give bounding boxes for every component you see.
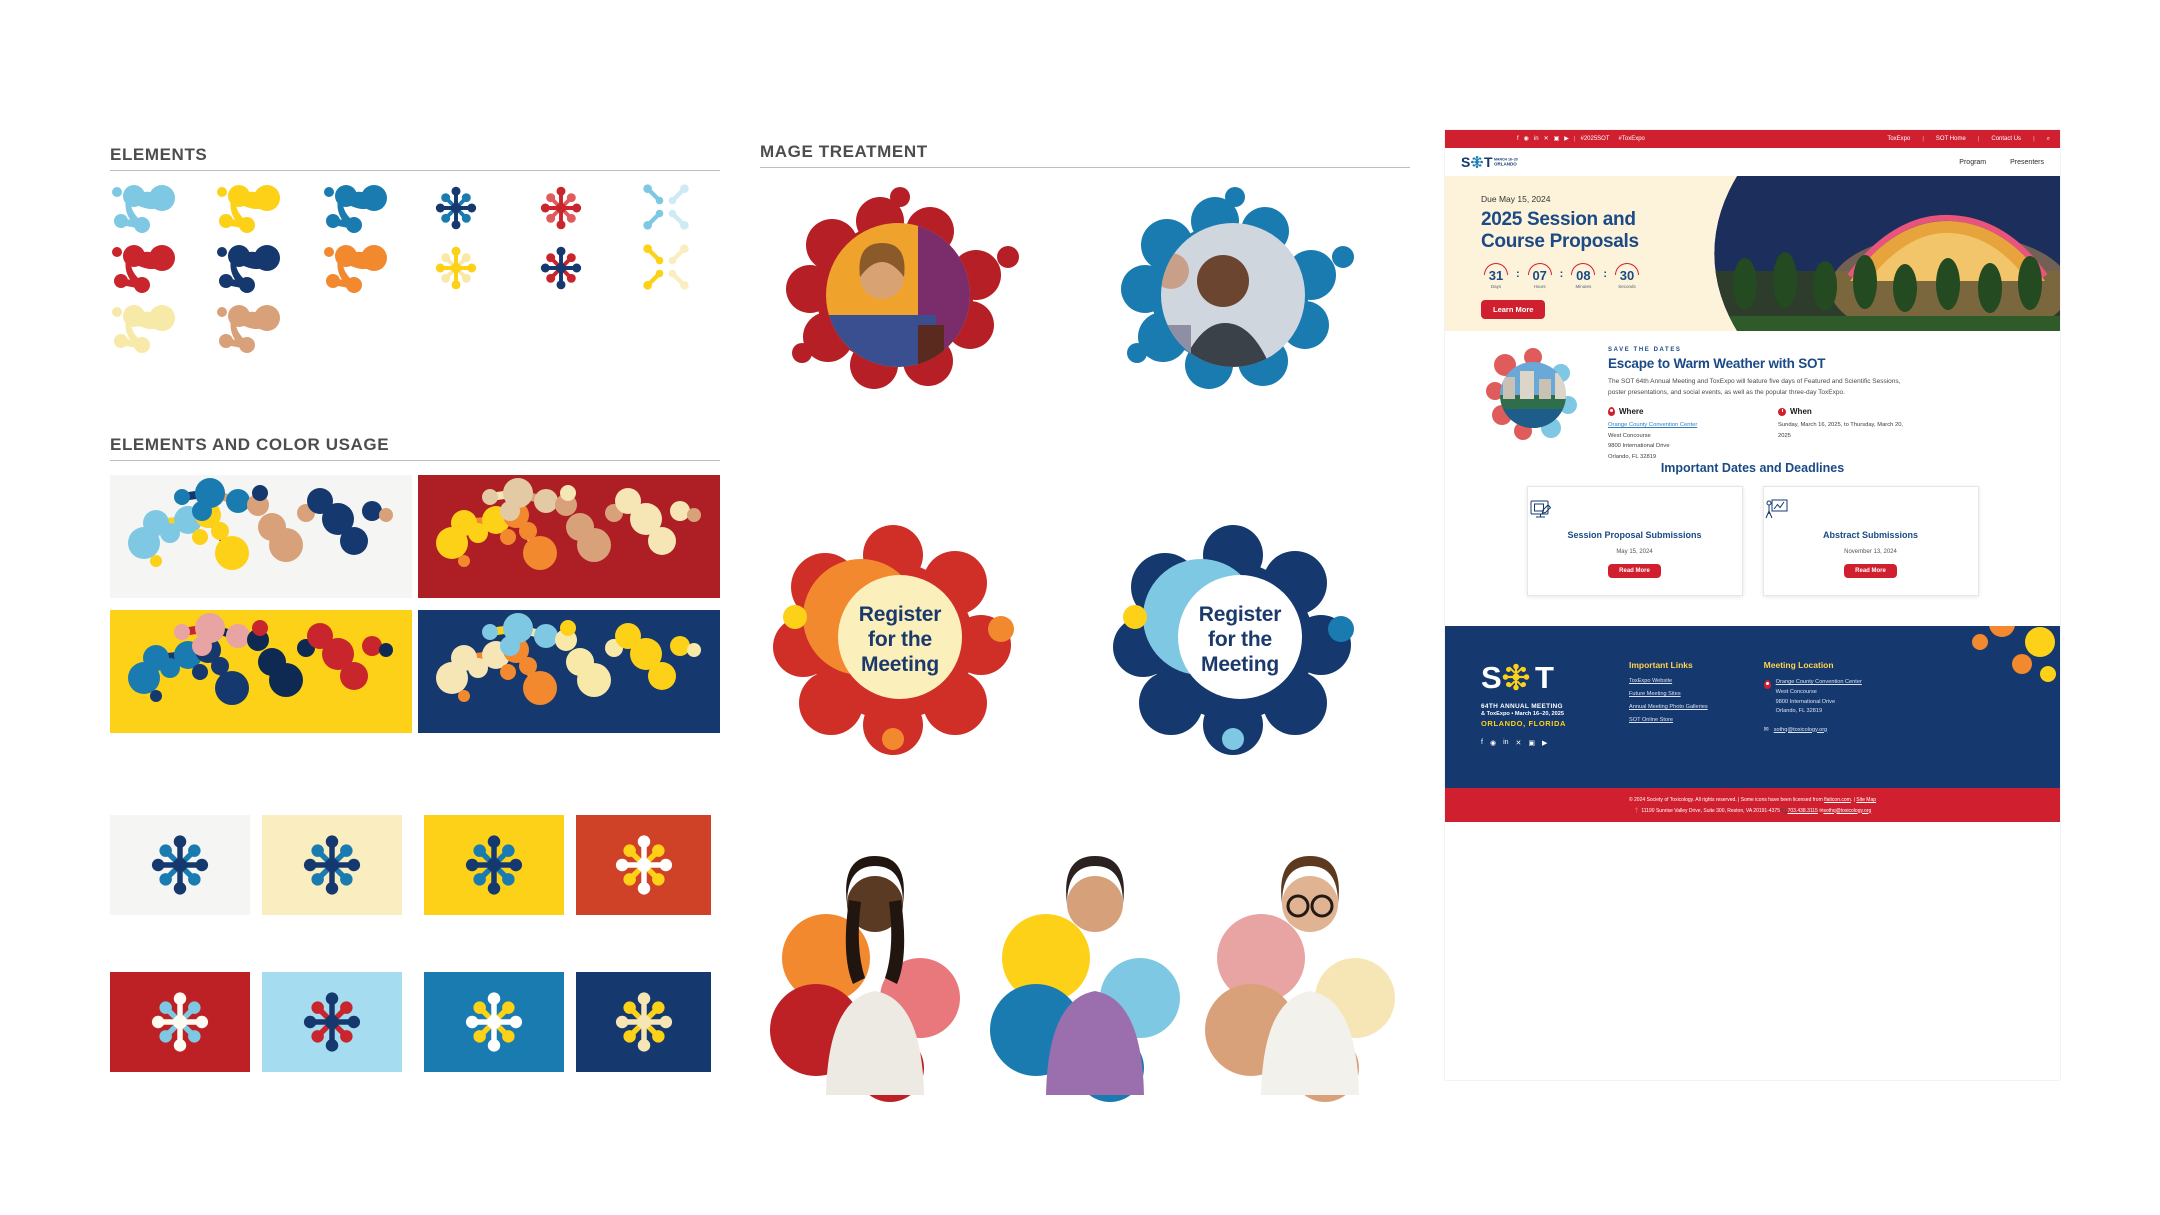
flickr-icon[interactable]: ▣ (1554, 136, 1560, 142)
hero-learn-more-button[interactable]: Learn More (1481, 300, 1545, 319)
swatch-orangered-whiteyellow-burst-icon (605, 826, 683, 904)
countdown-seconds: 30Seconds (1612, 263, 1642, 289)
separator: | (2033, 136, 2035, 142)
countdown-arc (1571, 263, 1595, 275)
swatch-midblue-whiteyellow-burst-icon (455, 983, 533, 1061)
footer-link[interactable]: Annual Meeting Photo Galleries (1629, 704, 1708, 710)
swatch-navy-creamyellow-burst-icon (605, 983, 683, 1061)
footer-logo-line-3: ORLANDO, FLORIDA (1481, 719, 1601, 728)
save-dates-heading: Escape to Warm Weather with SOT (1608, 356, 1913, 371)
nav-link-presenters[interactable]: Presenters (2010, 159, 2044, 166)
footer-links-heading: Important Links (1629, 660, 1708, 670)
burst-red-soft-glyph (533, 180, 589, 236)
molecule-cream (110, 300, 188, 356)
panel-white (110, 475, 412, 598)
molecule-cream-glyph (110, 300, 188, 356)
molecule-tan-glyph (215, 300, 293, 356)
linkedin-icon[interactable]: in (1503, 739, 1508, 747)
panel-yellow-artwork (110, 610, 412, 733)
panel-navy (418, 610, 720, 733)
photo-speaker-podium (770, 185, 1035, 400)
cross-yellow (638, 240, 694, 294)
card-read-more-button[interactable]: Read More (1608, 564, 1661, 578)
separator: | (1574, 136, 1576, 142)
burst-red-soft (533, 180, 589, 236)
separator: | (1922, 136, 1924, 142)
person-2 (990, 830, 1200, 1095)
topbar-hashtags[interactable]: #2025SOT#ToxExpo (1580, 136, 1644, 142)
swatch-white-navyblue (110, 815, 250, 915)
separator: | (1978, 136, 1980, 142)
footer-logo-block: S T 64TH ANNUAL MEETING & (1481, 660, 1601, 747)
register-badge-blue[interactable]: Registerfor theMeeting (1105, 525, 1375, 750)
panel-yellow (110, 610, 412, 733)
person-2-photo (990, 830, 1200, 1095)
clock-icon (1778, 408, 1786, 416)
footer-link[interactable]: Future Meeting Sites (1629, 691, 1708, 697)
register-badge-red[interactable]: Registerfor theMeeting (765, 525, 1035, 750)
copyright-line-2: 📍 11190 Sunrise Valley Drive, Suite 300,… (1445, 806, 2060, 817)
molecule-light-blue (110, 180, 188, 236)
site-topbar: f◉in✕▣▶ | #2025SOT#ToxExpo ToxExpo|SOT H… (1445, 130, 2060, 148)
when-body: Sunday, March 16, 2025, to Thursday, Mar… (1778, 420, 1913, 441)
topbar-link[interactable]: SOT Home (1936, 136, 1966, 142)
important-dates-section: Important Dates and Deadlines Session Pr… (1445, 461, 2060, 596)
photo-speaker-podium-artwork (770, 185, 1035, 400)
hero-section: Due May 15, 2024 2025 Session and Course… (1445, 176, 2060, 331)
footer-social-icons[interactable]: f◉in✕▣▶ (1481, 739, 1601, 747)
logo-sub-2: ORLANDO (1494, 161, 1517, 166)
swatch-white-navyblue-burst-icon (141, 826, 219, 904)
date-card: Session Proposal SubmissionsMay 15, 2024… (1527, 486, 1743, 596)
topbar-link[interactable]: Contact Us (1991, 136, 2021, 142)
register-badge-blue-label: Registerfor theMeeting (1105, 603, 1375, 677)
address-line: 9800 International Drive (1776, 699, 1835, 705)
panel-white-artwork (110, 475, 412, 598)
countdown-timer: 31Days:07Hours:08Minutes:30Seconds (1481, 263, 1711, 289)
facebook-icon[interactable]: f (1517, 136, 1519, 142)
where-label: Where (1619, 407, 1643, 416)
photo-attendees-talking-artwork (1105, 185, 1370, 400)
footer-sot-logo: S T (1481, 660, 1591, 700)
molecule-mid-blue (322, 180, 400, 236)
sot-logo[interactable]: S T MARCH 16–20 ORLAN (1461, 154, 1523, 171)
youtube-icon[interactable]: ▶ (1564, 136, 1569, 142)
save-dates-image (1475, 343, 1595, 453)
address-line: 9800 International Drive (1608, 443, 1670, 449)
card-title: Session Proposal Submissions (1528, 530, 1742, 540)
molecule-red (110, 240, 188, 296)
burst-navy-red-glyph (533, 240, 589, 296)
molecule-light-blue-glyph (110, 180, 188, 236)
molecule-navy (215, 240, 293, 296)
computer-document-icon (1528, 498, 1554, 522)
topbar-links[interactable]: ToxExpo|SOT Home|Contact Us|⌕ (1887, 136, 2050, 143)
copyright-text-a: © 2024 Society of Toxicology. All rights… (1629, 797, 1824, 803)
person-3 (1205, 830, 1415, 1095)
divider (110, 170, 720, 171)
x-icon[interactable]: ✕ (1516, 739, 1522, 747)
where-block: Where Orange County Convention Center We… (1608, 407, 1738, 463)
molecule-mid-blue-glyph (322, 180, 400, 236)
molecule-red-glyph (110, 240, 188, 296)
molecule-orange (322, 240, 400, 296)
section-header-elements: ELEMENTS (110, 145, 720, 171)
svg-text:T: T (1484, 154, 1493, 170)
footer-email-link[interactable]: sothq@toxicology.org (1774, 727, 1827, 733)
swatch-red-whiteblue (110, 972, 250, 1072)
section-title-image-treatment: MAGE TREATMENT (760, 142, 1410, 162)
youtube-icon[interactable]: ▶ (1542, 739, 1547, 747)
footer-link[interactable]: ToxExpo Website (1629, 678, 1708, 684)
topbar-link[interactable]: ToxExpo (1887, 136, 1910, 142)
panel-red (418, 475, 720, 598)
important-dates-heading: Important Dates and Deadlines (1445, 461, 2060, 475)
important-dates-cards: Session Proposal SubmissionsMay 15, 2024… (1445, 486, 2060, 596)
save-dates-copy: SAVE THE DATES Escape to Warm Weather wi… (1608, 347, 1913, 463)
nav-link-program[interactable]: Program (1959, 159, 1986, 166)
countdown-hours: 07Hours (1525, 263, 1555, 289)
svg-text:S: S (1481, 660, 1502, 695)
burst-navy-red (533, 240, 589, 296)
address-line: West Concourse (1608, 433, 1651, 439)
molecule-yellow-glyph (215, 180, 293, 236)
molecule-yellow (215, 180, 293, 236)
save-dates-body: The SOT 64th Annual Meeting and ToxExpo … (1608, 377, 1913, 398)
countdown-minutes: 08Minutes (1568, 263, 1598, 289)
footer-link[interactable]: SOT Online Store (1629, 717, 1708, 723)
register-badge-red-label: Registerfor theMeeting (765, 603, 1035, 677)
instagram-icon[interactable]: ◉ (1490, 739, 1496, 747)
hashtag-link[interactable]: #2025SOT (1580, 136, 1609, 142)
where-body: Orange County Convention Center West Con… (1608, 420, 1738, 463)
section-title-elements-color: ELEMENTS AND COLOR USAGE (110, 435, 720, 455)
swatch-navy-creamyellow (576, 972, 711, 1072)
footer-location-heading: Meeting Location (1764, 660, 1862, 670)
hero-photo-illustration (1700, 176, 2060, 331)
molecule-tan (215, 300, 293, 356)
swatch-cream-navyblue (262, 815, 402, 915)
card-title: Abstract Submissions (1764, 530, 1978, 540)
person-1-photo (770, 830, 980, 1095)
swatch-red-whiteblue-burst-icon (141, 983, 219, 1061)
molecule-orange-glyph (322, 240, 400, 296)
instagram-icon[interactable]: ◉ (1524, 136, 1529, 142)
countdown-label: Hours (1525, 284, 1555, 289)
topbar-social-icons[interactable]: f◉in✕▣▶ (1517, 136, 1569, 142)
venue-link[interactable]: Orange County Convention Center (1608, 422, 1697, 428)
presenter-easel-icon (1764, 498, 1790, 522)
swatch-lightblue-navyred-burst-icon (293, 983, 371, 1061)
address-text: 11190 Sunrise Valley Drive, Suite 300, R… (1641, 808, 1780, 814)
molecule-navy-glyph (215, 240, 293, 296)
person-1 (770, 830, 980, 1095)
linkedin-icon[interactable]: in (1534, 136, 1539, 142)
save-the-dates-section: SAVE THE DATES Escape to Warm Weather wi… (1445, 331, 2060, 461)
location-pin-icon (1608, 407, 1615, 416)
countdown-separator: : (1516, 268, 1520, 289)
phone-link[interactable]: 703.438.3115 (1788, 808, 1818, 814)
address-line: Orlando, FL 32819 (1776, 708, 1822, 714)
person-3-photo (1205, 830, 1415, 1095)
hero-due-date: Due May 15, 2024 (1481, 194, 1711, 204)
flickr-icon[interactable]: ▣ (1528, 739, 1535, 747)
where-heading: Where (1608, 407, 1738, 416)
location-pin-icon (1764, 680, 1771, 689)
logo-sub-1: MARCH 16–20 (1494, 157, 1518, 161)
burst-navy-blue (428, 180, 484, 236)
swatch-lightblue-navyred (262, 972, 402, 1072)
address-line: Orlando, FL 32819 (1608, 454, 1656, 460)
countdown-arc (1528, 263, 1552, 275)
facebook-icon[interactable]: f (1481, 739, 1483, 747)
cross-light-blue (638, 180, 694, 234)
swatch-yellow-navyblue (424, 815, 564, 915)
copyright-bar: © 2024 Society of Toxicology. All rights… (1445, 788, 2060, 822)
address-line: West Concourse (1776, 689, 1817, 695)
countdown-separator: : (1560, 268, 1564, 289)
burst-yellow-cream-glyph (428, 240, 484, 296)
footer-content: S T 64TH ANNUAL MEETING & (1481, 660, 2040, 747)
hero-title-line-1: 2025 Session and (1481, 209, 1711, 231)
sot-logo-mark: S T MARCH 16–20 ORLAN (1461, 154, 1523, 171)
navbar-links[interactable]: ProgramPresenters (1959, 159, 2044, 166)
email-link[interactable]: sothq@toxicology.org (1823, 808, 1871, 814)
countdown-label: Minutes (1568, 284, 1598, 289)
footer-location-col: Meeting Location Orange County Conventio… (1764, 660, 1862, 747)
when-heading: When (1778, 407, 1913, 416)
swatch-cream-navyblue-burst-icon (293, 826, 371, 904)
orlando-photo-blob (1475, 343, 1595, 453)
swatch-orangered-whiteyellow (576, 815, 711, 915)
panel-red-artwork (418, 475, 720, 598)
card-date: November 13, 2024 (1764, 549, 1978, 555)
hero-copy: Due May 15, 2024 2025 Session and Course… (1481, 194, 1711, 319)
footer-logo-line-1: 64TH ANNUAL MEETING (1481, 703, 1601, 710)
swatch-yellow-navyblue-burst-icon (455, 826, 533, 904)
burst-yellow-cream (428, 240, 484, 296)
save-dates-eyebrow: SAVE THE DATES (1608, 347, 1913, 353)
section-title-elements: ELEMENTS (110, 145, 720, 165)
location-pin-icon: 📍 (1634, 808, 1640, 814)
cross-yellow-glyph (638, 240, 694, 294)
photo-attendees-talking (1105, 185, 1370, 400)
countdown-label: Seconds (1612, 284, 1642, 289)
section-header-elements-color: ELEMENTS AND COLOR USAGE (110, 435, 720, 461)
section-header-image-treatment: MAGE TREATMENT (760, 142, 1410, 168)
when-block: When Sunday, March 16, 2025, to Thursday… (1778, 407, 1913, 463)
countdown-arc (1615, 263, 1639, 275)
sitemap-link[interactable]: Site Map (1856, 797, 1876, 803)
svg-text:S: S (1461, 154, 1470, 170)
swatch-midblue-whiteyellow (424, 972, 564, 1072)
flaticon-link[interactable]: flaticon.com (1824, 797, 1851, 803)
hashtag-link[interactable]: #ToxExpo (1619, 136, 1645, 142)
site-footer: S T 64TH ANNUAL MEETING & (1445, 626, 2060, 788)
copyright-line-1: © 2024 Society of Toxicology. All rights… (1445, 795, 2060, 806)
countdown-separator: : (1603, 268, 1607, 289)
footer-links-col: Important Links ToxExpo WebsiteFuture Me… (1629, 660, 1708, 747)
svg-text:T: T (1535, 660, 1554, 695)
countdown-label: Days (1481, 284, 1511, 289)
panel-navy-artwork (418, 610, 720, 733)
divider (110, 460, 720, 461)
card-date: May 15, 2024 (1528, 549, 1742, 555)
x-icon[interactable]: ✕ (1544, 136, 1549, 142)
divider (760, 167, 1410, 168)
countdown-arc (1484, 263, 1508, 275)
date-card: Abstract SubmissionsNovember 13, 2024Rea… (1763, 486, 1979, 596)
website-mockup: f◉in✕▣▶ | #2025SOT#ToxExpo ToxExpo|SOT H… (1445, 130, 2060, 1080)
footer-logo-line-2: & ToxExpo • March 16–20, 2025 (1481, 711, 1601, 717)
search-icon[interactable]: ⌕ (2047, 136, 2050, 143)
footer-location-body: Orange County Convention Center West Con… (1776, 678, 1862, 717)
burst-navy-blue-glyph (428, 180, 484, 236)
site-navbar: S T MARCH 16–20 ORLAN (1445, 148, 2060, 176)
cross-light-blue-glyph (638, 180, 694, 234)
envelope-icon: ✉ (1764, 726, 1769, 733)
hero-image (1700, 176, 2060, 331)
hero-title-line-2: Course Proposals (1481, 231, 1711, 253)
when-label: When (1790, 407, 1812, 416)
footer-venue-link[interactable]: Orange County Convention Center (1776, 678, 1862, 688)
card-read-more-button[interactable]: Read More (1844, 564, 1897, 578)
countdown-days: 31Days (1481, 263, 1511, 289)
